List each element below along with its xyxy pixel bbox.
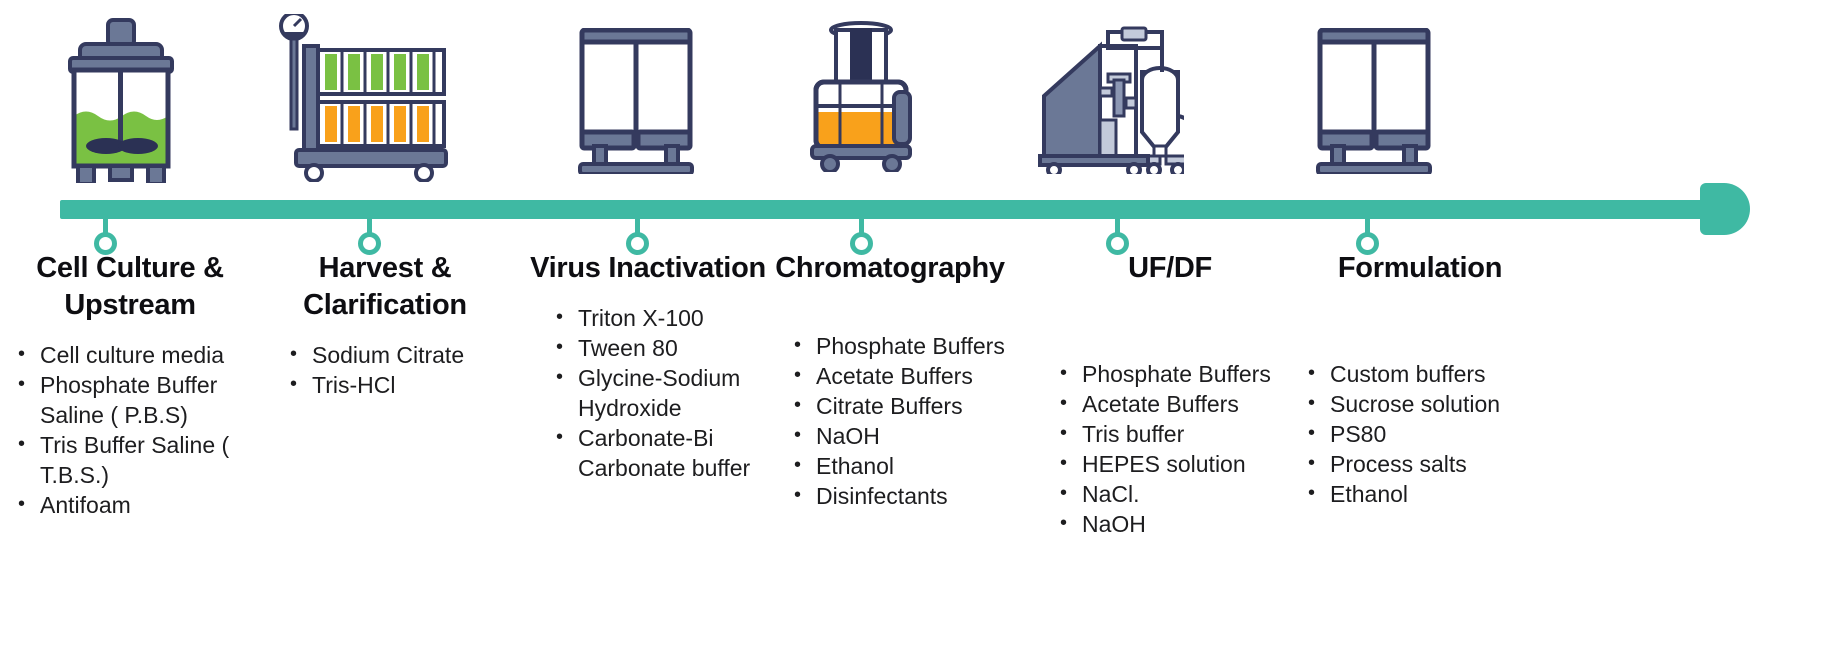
list-item: Custom buffers — [1302, 359, 1550, 389]
list-item: NaCl. — [1054, 479, 1300, 509]
stage-column-cell-culture-upstream: Cell Culture & Upstream Cell culture med… — [0, 250, 260, 520]
holding-tank-cabinet-icon — [578, 28, 694, 174]
list-item: Tris-HCl — [284, 370, 512, 400]
stage-material-list: Phosphate Buffers Acetate Buffers Tris b… — [1054, 359, 1300, 539]
list-item: Phosphate Buffer Saline ( P.B.S) — [12, 370, 260, 430]
list-item: Antifoam — [12, 490, 260, 520]
list-item: NaOH — [788, 421, 1040, 451]
stage-column-uf-df: UF/DF Phosphate Buffers Acetate Buffers … — [1040, 250, 1300, 539]
list-item: Acetate Buffers — [1054, 389, 1300, 419]
process-timeline-diagram: Cell Culture & Upstream Cell culture med… — [0, 0, 1837, 648]
stage-title: UF/DF — [1040, 250, 1300, 287]
timeline-bar — [60, 200, 1720, 219]
stage-material-list: Sodium Citrate Tris-HCl — [284, 340, 512, 400]
list-item: Disinfectants — [788, 481, 1040, 511]
formulation-vessel-icon — [1316, 28, 1432, 174]
depth-filter-rack-icon — [278, 14, 450, 182]
stage-material-list: Cell culture media Phosphate Buffer Sali… — [12, 340, 260, 520]
list-item: NaOH — [1054, 509, 1300, 539]
timeline-axis — [60, 196, 1780, 222]
chromatography-column-icon — [806, 20, 916, 172]
list-item: Sodium Citrate — [284, 340, 512, 370]
list-item: HEPES solution — [1054, 449, 1300, 479]
list-item: Ethanol — [1302, 479, 1550, 509]
list-item: Acetate Buffers — [788, 361, 1040, 391]
stage-material-list: Phosphate Buffers Acetate Buffers Citrat… — [788, 331, 1040, 511]
list-item: Ethanol — [788, 451, 1040, 481]
stage-title: Virus Inactivation — [520, 250, 776, 287]
bioreactor-icon — [52, 18, 192, 183]
list-item: Phosphate Buffers — [788, 331, 1040, 361]
list-item: Sucrose solution — [1302, 389, 1550, 419]
list-item: Cell culture media — [12, 340, 260, 370]
stage-title: Cell Culture & Upstream — [0, 250, 260, 324]
list-item: Phosphate Buffers — [1054, 359, 1300, 389]
list-item: Citrate Buffers — [788, 391, 1040, 421]
stage-column-chromatography: Chromatography Phosphate Buffers Acetate… — [740, 250, 1040, 511]
ultrafiltration-skid-icon — [1038, 24, 1184, 174]
stage-title: Harvest & Clarification — [258, 250, 512, 324]
timeline-arrowhead — [1700, 183, 1750, 235]
stage-column-harvest-clarification: Harvest & Clarification Sodium Citrate T… — [258, 250, 512, 400]
stage-column-virus-inactivation: Virus Inactivation Triton X-100 Tween 80… — [520, 250, 776, 483]
list-item: PS80 — [1302, 419, 1550, 449]
stage-material-list: Custom buffers Sucrose solution PS80 Pro… — [1302, 359, 1550, 509]
list-item: Tris Buffer Saline ( T.B.S.) — [12, 430, 260, 490]
list-item: Process salts — [1302, 449, 1550, 479]
list-item: Tris buffer — [1054, 419, 1300, 449]
stage-column-formulation: Formulation Custom buffers Sucrose solut… — [1290, 250, 1550, 509]
stage-title: Formulation — [1290, 250, 1550, 287]
stage-title: Chromatography — [740, 250, 1040, 287]
